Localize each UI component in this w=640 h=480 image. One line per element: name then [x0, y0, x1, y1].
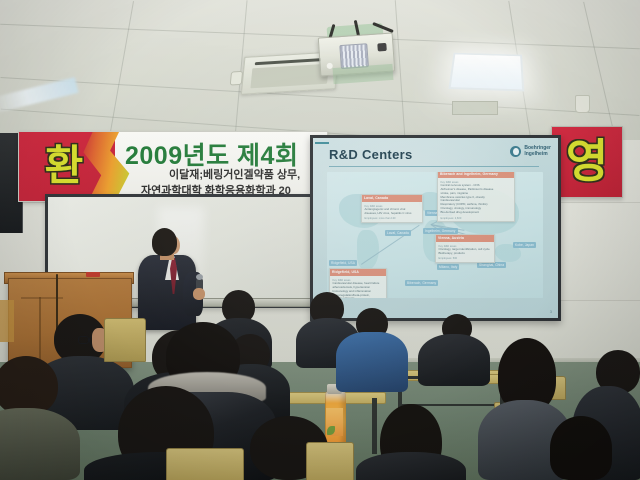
slide-accent-tick — [315, 142, 329, 144]
cardboard-box — [0, 300, 14, 342]
callout-body: Key R&D areas Central nervous system - C… — [438, 178, 514, 221]
speaker-head — [152, 228, 177, 256]
callout-body: Key R&D areas Oncology, target identific… — [436, 242, 494, 262]
red-object-on-lectern — [86, 272, 100, 277]
callout-body: Key R&D areas Antiangiogenic and chronic… — [362, 202, 422, 222]
callout-header: Ridgefield, USA — [330, 269, 386, 276]
desk-leg — [372, 398, 377, 454]
bi-line-2: Ingelheim — [524, 151, 551, 157]
chair-back — [166, 448, 244, 480]
chair-back — [104, 318, 146, 362]
map-node: Laval, Canada — [385, 230, 411, 236]
ac-sensor — [230, 71, 243, 86]
slide-world-map: Laval, Canada Ridgefield, USA Ingelheim,… — [327, 172, 543, 298]
map-node: Biberach, Germany — [405, 280, 438, 286]
banner-subtitle-1: 이달재;베링거인겔약품 상무, — [169, 166, 300, 182]
boehringer-ingelheim-logo: Boehringer Ingelheim — [510, 145, 551, 157]
slide-callout: Biberach and Ingelheim, Germany Key R&D … — [437, 172, 515, 222]
welcome-banner: 환 2009년도 제4회 이달재;베링거인겔약품 상무, 자연과학대학 화학응용… — [18, 131, 328, 202]
audience-body — [356, 452, 466, 480]
fluorescent-light-right — [448, 53, 524, 92]
fluorescent-light-left — [0, 77, 79, 115]
projector-port — [377, 43, 387, 52]
lectern-seam — [39, 297, 41, 361]
callout-body: Key R&D areas Cardiovascular disease, he… — [330, 276, 386, 298]
audience-body — [0, 408, 80, 480]
ceiling-vent — [452, 101, 498, 115]
slide-callout: Laval, Canada Key R&D areas Antiangiogen… — [361, 194, 423, 223]
callout-line: Bio-derived drug development — [441, 211, 512, 215]
slide-callout: Vienna, Austria Key R&D areas Oncology, … — [435, 234, 495, 263]
welcome-banner-right: 영 — [551, 126, 623, 198]
ac-grill — [250, 64, 329, 89]
projection-screen: R&D Centers Boehringer Ingelheim Laval, … — [310, 135, 561, 321]
callout-header: Vienna, Austria — [436, 235, 494, 242]
callout-header: Laval, Canada — [362, 195, 422, 202]
audience-head — [550, 416, 612, 480]
callout-footer: Employees: more than 130 — [365, 217, 420, 220]
slide-callout: Ridgefield, USA Key R&D areas Cardiovasc… — [329, 268, 387, 298]
ceiling-speaker-icon — [575, 95, 590, 113]
bi-emblem-icon — [510, 146, 521, 157]
map-node: Shanghai, China — [477, 262, 506, 268]
callout-footer: Employees: 2,600 — [441, 217, 512, 220]
microphone-head-icon — [196, 274, 203, 280]
slide-title-rule — [329, 166, 539, 167]
map-node: Kobe, Japan — [513, 242, 536, 248]
map-node: Ridgefield, USA — [329, 260, 357, 266]
chair-back — [306, 442, 354, 480]
slide-title: R&D Centers — [329, 147, 412, 162]
speaker-hand — [193, 288, 205, 300]
callout-footer: Employees: 500 — [439, 257, 492, 260]
lecture-hall-photo: 환 2009년도 제4회 이달재;베링거인겔약품 상무, 자연과학대학 화학응용… — [0, 0, 640, 480]
map-node: Milano, Italy — [437, 264, 459, 270]
banner-welcome-char-right: 영 — [552, 135, 622, 187]
callout-line: Biotherapy, products — [439, 252, 492, 256]
callout-line: diseases, HIV virus, hepatitis C virus — [365, 212, 420, 216]
audience-body — [336, 332, 408, 392]
bi-wordmark: Boehringer Ingelheim — [524, 145, 551, 157]
banner-welcome-char-left: 환 — [35, 142, 93, 190]
audience-body — [418, 334, 490, 386]
audience-head — [0, 356, 58, 416]
slide-page-number: 3 — [550, 309, 552, 314]
